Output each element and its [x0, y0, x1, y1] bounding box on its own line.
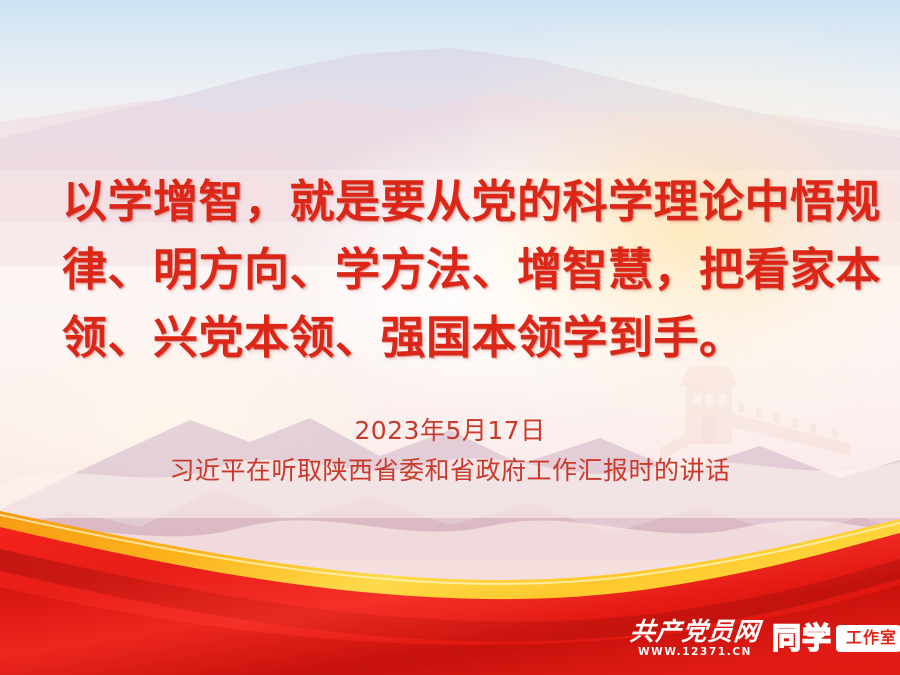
studio-logo[interactable]: 同学 工作室 [772, 622, 900, 654]
quote-line-2: 律、明方向、学方法、增智慧，把看家本 [62, 236, 838, 304]
quote-line-3: 领、兴党本领、强国本领学到手。 [62, 304, 838, 372]
studio-suffix-badge: 工作室 [836, 625, 900, 652]
quote-block: 以学增智，就是要从党的科学理论中悟规 律、明方向、学方法、增智慧，把看家本 领、… [0, 168, 900, 372]
site-logo[interactable]: 共产党员网 WWW.12371.CN [630, 618, 760, 659]
site-name-text: 共产党员网 [629, 618, 762, 645]
attribution-date: 2023年5月17日 [0, 414, 900, 448]
quote-line-1: 以学增智，就是要从党的科学理论中悟规 [62, 168, 838, 236]
studio-name-text: 同学 [772, 622, 832, 654]
logo-lockup[interactable]: 共产党员网 WWW.12371.CN 同学 工作室 [630, 612, 880, 664]
poster-canvas: 以学增智，就是要从党的科学理论中悟规 律、明方向、学方法、增智慧，把看家本 领、… [0, 0, 900, 675]
site-url-text: WWW.12371.CN [638, 646, 752, 659]
